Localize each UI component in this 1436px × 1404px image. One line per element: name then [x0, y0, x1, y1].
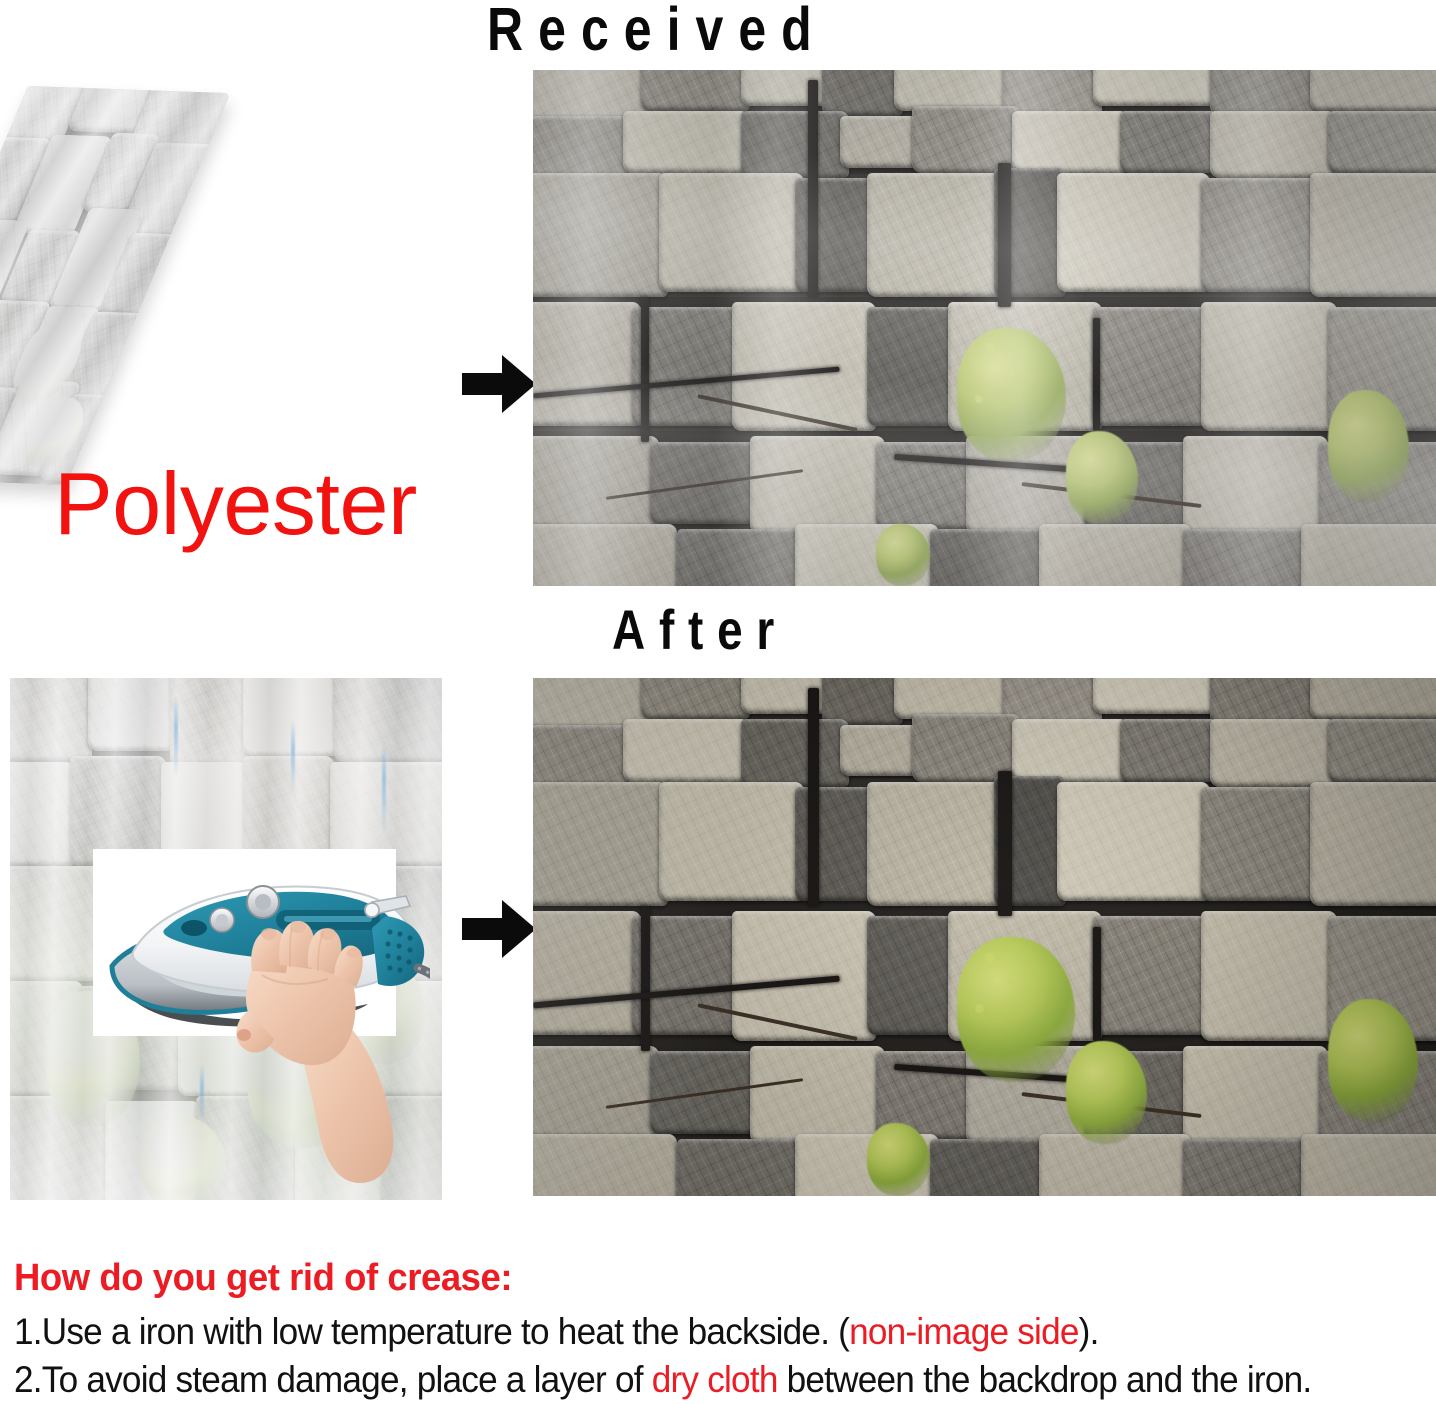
- care-step-2-part2: between the backdrop and the iron.: [778, 1359, 1312, 1400]
- foliage-center: [957, 328, 1065, 462]
- care-step-1: 1.Use a iron with low temperature to hea…: [14, 1308, 1355, 1356]
- section-title-after: After: [612, 597, 788, 662]
- fabric-print-texture: [0, 86, 230, 485]
- foliage-small: [876, 524, 930, 586]
- section-title-received: Received: [487, 0, 827, 64]
- care-step-2-highlight: dry cloth: [652, 1359, 778, 1400]
- care-step-2-part1: 2.To avoid steam damage, place a layer o…: [14, 1359, 652, 1400]
- received-backdrop-photo: [533, 70, 1436, 586]
- right-arrow-icon: [462, 900, 536, 958]
- care-step-1-part1: 1.Use a iron with low temperature to hea…: [14, 1311, 849, 1352]
- care-heading: How do you get rid of crease:: [14, 1258, 1370, 1299]
- after-backdrop-photo: [533, 678, 1436, 1196]
- care-step-1-highlight: non-image side: [849, 1311, 1079, 1352]
- foliage-lower: [1066, 431, 1138, 524]
- care-step-1-part2: ).: [1079, 1311, 1099, 1352]
- polyester-fabric-swatch: [0, 86, 230, 485]
- foliage-lower: [1066, 1041, 1147, 1145]
- foliage-right: [1328, 390, 1409, 504]
- foliage-right: [1328, 999, 1418, 1123]
- foliage-small: [867, 1123, 930, 1196]
- hand-icon: [232, 915, 407, 1185]
- care-instructions: How do you get rid of crease: 1.Use a ir…: [14, 1258, 1426, 1404]
- care-step-2: 2.To avoid steam damage, place a layer o…: [14, 1356, 1355, 1404]
- polyester-label: Polyester: [54, 460, 417, 548]
- right-arrow-icon: [462, 355, 536, 413]
